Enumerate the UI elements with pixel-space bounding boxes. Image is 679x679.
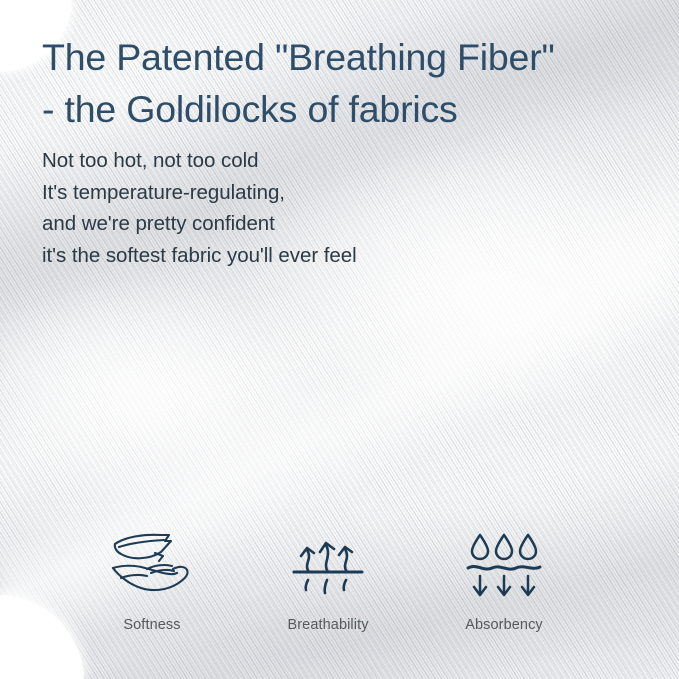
water-droplets-downward-arrows-icon <box>464 528 544 602</box>
fabric-feature-banner: The Patented "Breathing Fiber" - the Gol… <box>0 0 679 679</box>
page-subtitle: Not too hot, not too cold It's temperatu… <box>42 145 602 271</box>
feature-label-absorbency: Absorbency <box>465 617 543 633</box>
feature-label-breathability: Breathability <box>287 617 368 633</box>
feature-item-absorbency: Absorbency <box>444 528 564 633</box>
feature-label-softness: Softness <box>123 617 180 633</box>
feature-list: Softness <box>0 528 679 633</box>
feature-item-breathability: Breathability <box>268 528 388 633</box>
feather-over-hand-icon <box>109 528 195 602</box>
upward-airflow-arrows-icon <box>291 528 365 602</box>
page-title: The Patented "Breathing Fiber" - the Gol… <box>42 31 662 135</box>
feature-item-softness: Softness <box>92 528 212 633</box>
